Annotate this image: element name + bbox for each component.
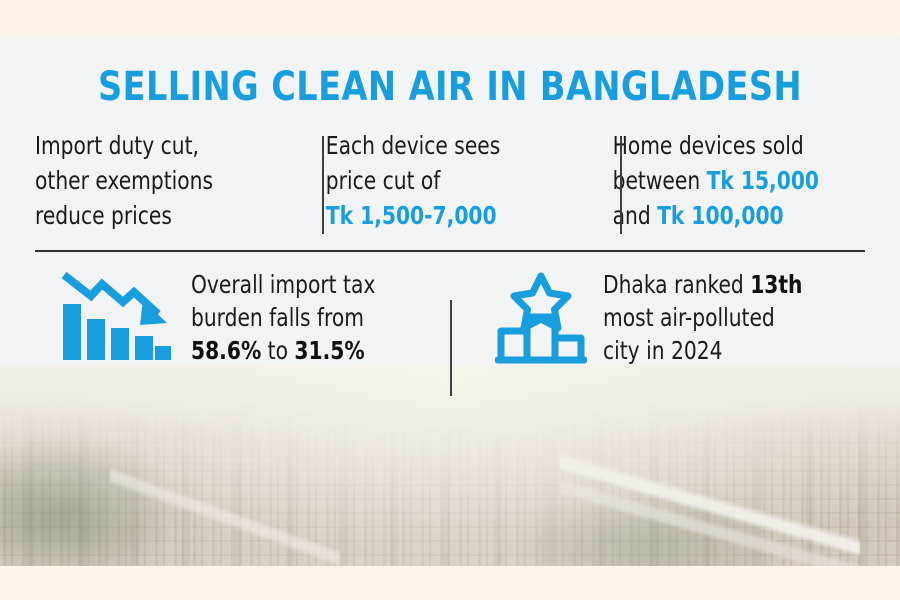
stat-import-tax-line1: Overall import tax (191, 268, 375, 301)
fact-import-duty-line2: other exemptions (35, 163, 249, 198)
stat-value-to: 31.5% (294, 336, 364, 365)
stat-value-from: 58.6% (191, 336, 261, 365)
stat-dhaka-line2: most air-polluted (603, 301, 802, 334)
stat-dhaka-ranking-text: Dhaka ranked 13th most air-polluted city… (603, 268, 802, 367)
stat-import-tax-values: 58.6% to 31.5% (191, 334, 375, 367)
stat-import-tax-burden: Overall import tax burden falls from 58.… (57, 268, 396, 367)
fact-home-device-line1: Home devices sold (612, 128, 836, 163)
stat-value-connector: to (261, 336, 294, 365)
page-title: SELLING CLEAN AIR IN BANGLADESH (72, 64, 828, 110)
fact-home-device-amount-min: Tk 15,000 (706, 166, 818, 195)
infographic-card: SELLING CLEAN AIR IN BANGLADESH Import d… (0, 36, 900, 566)
fact-import-duty-line3: reduce prices (35, 198, 249, 233)
podium-star-icon (495, 270, 587, 366)
stat-dhaka-line1-prefix: Dhaka ranked (603, 270, 750, 299)
infographic-content: SELLING CLEAN AIR IN BANGLADESH Import d… (0, 36, 900, 566)
stat-dhaka-line1: Dhaka ranked 13th (603, 268, 802, 301)
vertical-divider-3 (450, 300, 452, 396)
fact-import-duty-line1: Import duty cut, (35, 128, 249, 163)
declining-bar-chart-icon (57, 270, 175, 366)
vertical-divider-2 (620, 136, 622, 234)
fact-home-device-line3: and Tk 100,000 (612, 198, 836, 233)
horizontal-divider (35, 250, 865, 252)
fact-price-cut-line1: Each device sees (326, 128, 532, 163)
top-facts-row: Import duty cut, other exemptions reduce… (35, 128, 865, 234)
bottom-stats-row: Overall import tax burden falls from 58.… (35, 268, 865, 376)
vertical-divider-1 (322, 136, 324, 234)
stat-dhaka-ranking: Dhaka ranked 13th most air-polluted city… (495, 268, 825, 367)
fact-home-device-line2-prefix: between (612, 166, 706, 195)
fact-import-duty: Import duty cut, other exemptions reduce… (35, 128, 271, 234)
top-margin-strip (0, 0, 900, 36)
fact-home-device-amount-max: Tk 100,000 (657, 201, 784, 230)
fact-price-cut-line2: price cut of (326, 163, 532, 198)
stat-import-tax-line2: burden falls from (191, 301, 375, 334)
infographic-page: SELLING CLEAN AIR IN BANGLADESH Import d… (0, 0, 900, 600)
fact-price-cut-amount: Tk 1,500-7,000 (326, 198, 532, 233)
fact-price-cut: Each device sees price cut of Tk 1,500-7… (297, 128, 553, 234)
stat-dhaka-line3: city in 2024 (603, 334, 802, 367)
fact-home-device-line3-prefix: and (612, 201, 657, 230)
bottom-margin-strip (0, 566, 900, 600)
fact-home-device-line2: between Tk 15,000 (612, 163, 836, 198)
stat-import-tax-burden-text: Overall import tax burden falls from 58.… (191, 268, 375, 367)
stat-dhaka-rank: 13th (750, 270, 802, 299)
